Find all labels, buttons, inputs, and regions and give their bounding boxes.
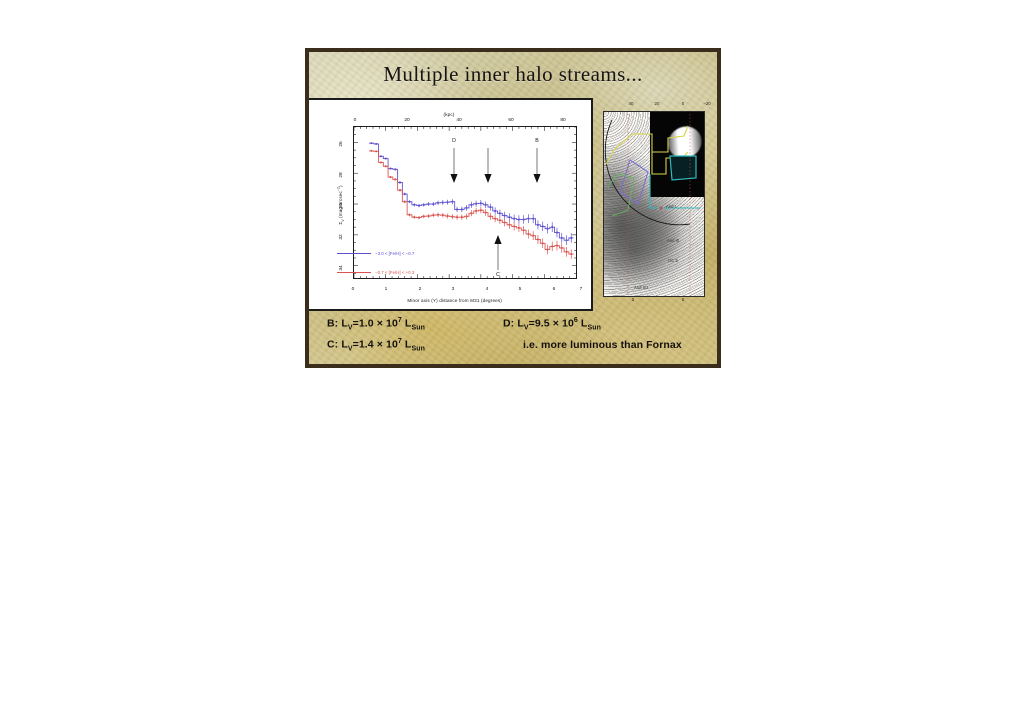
caption-b-prefix: B: [327, 317, 338, 329]
caption-d-lsun-sub: Sun [587, 324, 601, 331]
caption-d-exp: 6 [574, 317, 578, 324]
caption-b: B: LV=1.0 × 107 LSun [327, 317, 503, 332]
caption-c-lsun-sub: Sun [411, 346, 425, 353]
caption-c-value: =1.4 × 10 [353, 339, 398, 351]
caption-b-value: =1.0 × 10 [353, 317, 398, 329]
caption-d-prefix: D: [503, 317, 514, 329]
m31-starcount-map-panel: 40 20 0 −20 And I And III GC 5 [597, 99, 721, 312]
annotation-arrows [307, 100, 595, 313]
map-top-tick-m20: −20 [703, 101, 710, 106]
legend-swatch-metal-poor [337, 253, 371, 254]
map-bottom-tick-0: 0 [682, 297, 684, 302]
caption-row-1: B: LV=1.0 × 107 LSun D: LV=9.5 × 106 LSu… [327, 317, 699, 332]
map-label-and-xii: And XII [634, 285, 648, 290]
map-top-tick-0: 0 [682, 101, 684, 106]
caption-b-exp: 7 [398, 317, 402, 324]
legend-label-metal-poor: −3.0 < [Fe/H] < −0.7 [375, 251, 414, 256]
map-right-tick-m20: −20 [716, 157, 721, 164]
map-plot-frame: And I And III GC 5 And XII [603, 111, 705, 297]
map-top-tick-20: 20 [655, 101, 660, 106]
map-right-tick-m40: −40 [716, 195, 721, 202]
caption-row-2: C: LV=1.4 × 107 LSun i.e. more luminous … [327, 338, 699, 353]
caption-block: B: LV=1.0 × 107 LSun D: LV=9.5 × 106 LSu… [309, 317, 717, 360]
map-label-and-iii: And III [667, 238, 679, 243]
legend-swatch-metal-rich [337, 272, 371, 273]
map-label-and-i: And I [666, 204, 676, 209]
caption-d: D: LV=9.5 × 106 LSun [503, 317, 699, 332]
caption-c: C: LV=1.4 × 107 LSun [327, 338, 503, 353]
map-bottom-tick-2: 2 [632, 297, 634, 302]
map-label-gc-5: GC 5 [668, 258, 678, 263]
presentation-slide: Multiple inner halo streams... 40 20 0 −… [305, 48, 721, 368]
map-top-tick-40: 40 [629, 101, 634, 106]
caption-c-prefix: C: [327, 339, 338, 351]
legend-label-metal-rich: −0.7 < [Fe/H] < +0.3 [375, 270, 414, 275]
map-right-tick-m60: −60 [716, 233, 721, 240]
caption-c-exp: 7 [398, 338, 402, 345]
map-right-tick-m80: −80 [716, 267, 721, 274]
caption-fornax: i.e. more luminous than Fornax [503, 339, 699, 351]
map-field-overlays [604, 112, 704, 296]
surface-brightness-chart-panel: (kpc) ΣV (mag arcsec−2) Minor axis (Y) d… [305, 98, 593, 311]
caption-d-value: =9.5 × 10 [529, 317, 574, 329]
page-title: Multiple inner halo streams... [309, 62, 717, 87]
legend-item-metal-rich: −0.7 < [Fe/H] < +0.3 [337, 270, 414, 275]
caption-b-lsun-sub: Sun [411, 324, 425, 331]
legend-item-metal-poor: −3.0 < [Fe/H] < −0.7 [337, 251, 414, 256]
map-right-tick-0: 0 [718, 122, 721, 124]
